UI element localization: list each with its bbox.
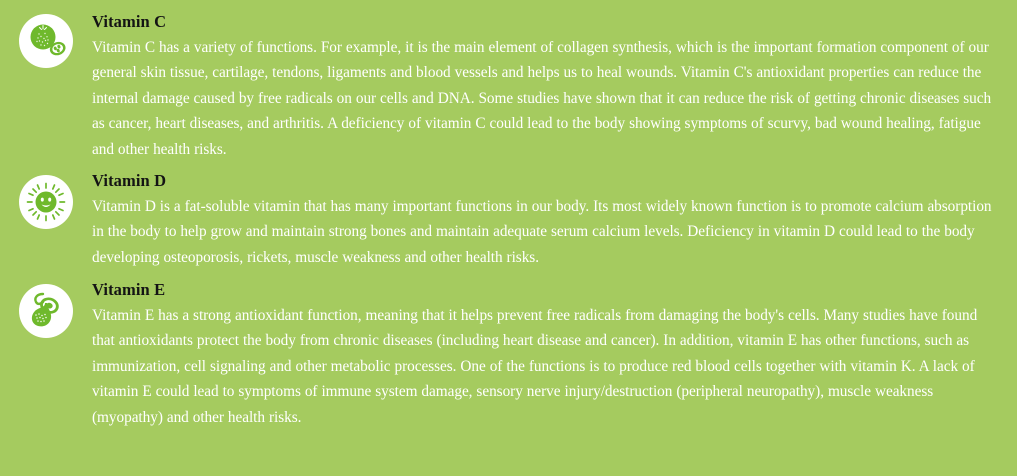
vitamin-section-e: Vitamin E Vitamin E has a strong antioxi…: [0, 280, 1011, 430]
text-column-e: Vitamin E Vitamin E has a strong antioxi…: [92, 280, 1011, 430]
vitamin-info-panel: Vitamin C Vitamin C has a variety of fun…: [0, 0, 1017, 476]
vitamin-e-title: Vitamin E: [92, 280, 1003, 301]
citrus-fruit-icon: [19, 14, 73, 68]
vitamin-c-description: Vitamin C has a variety of functions. Fo…: [92, 35, 1003, 163]
vitamin-c-title: Vitamin C: [92, 12, 1003, 33]
icon-column-d: [0, 171, 92, 229]
smiling-sun-icon: [19, 175, 73, 229]
icon-column-e: [0, 280, 92, 338]
vitamin-d-description: Vitamin D is a fat-soluble vitamin that …: [92, 194, 1003, 271]
text-column-d: Vitamin D Vitamin D is a fat-soluble vit…: [92, 171, 1011, 270]
vitamin-section-c: Vitamin C Vitamin C has a variety of fun…: [0, 8, 1011, 162]
vitamin-e-description: Vitamin E has a strong antioxidant funct…: [92, 303, 1003, 431]
vitamin-section-d: Vitamin D Vitamin D is a fat-soluble vit…: [0, 171, 1011, 270]
avocado-icon: [19, 284, 73, 338]
vitamin-d-title: Vitamin D: [92, 171, 1003, 192]
text-column-c: Vitamin C Vitamin C has a variety of fun…: [92, 8, 1011, 162]
icon-column-c: [0, 8, 92, 68]
